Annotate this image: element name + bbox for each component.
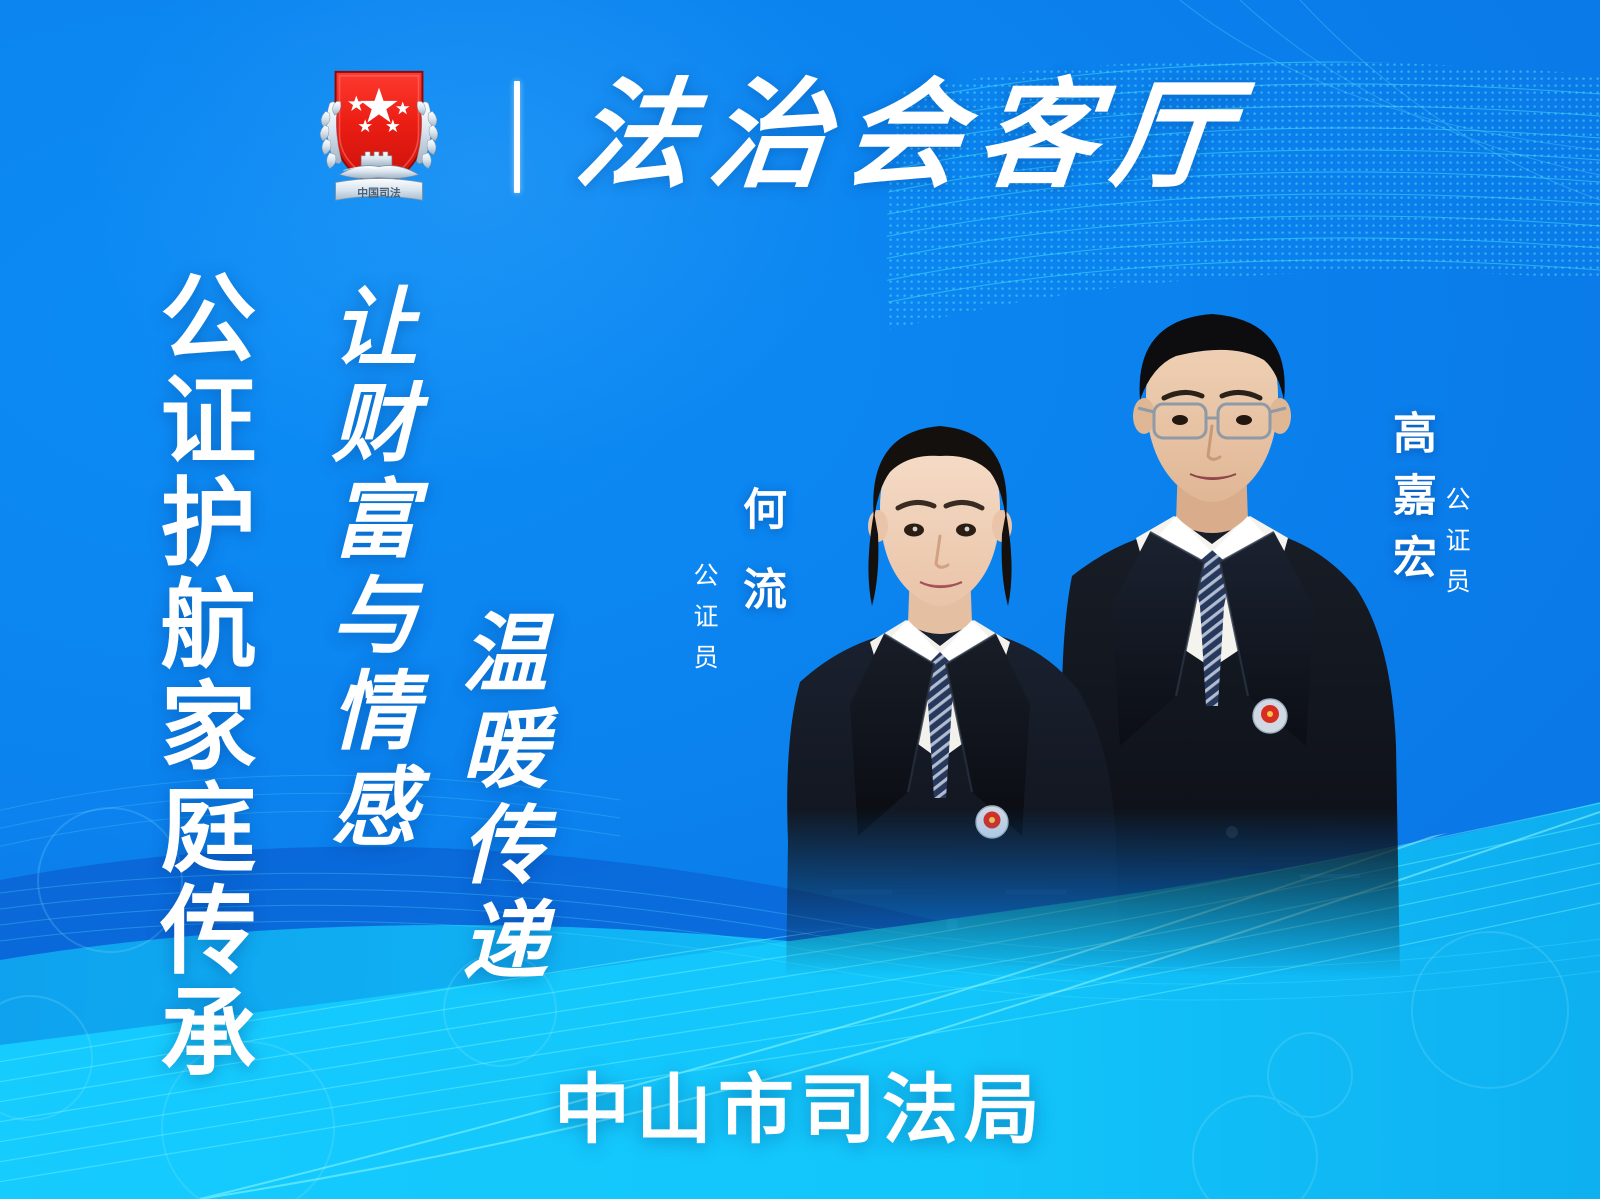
poster-canvas: 中国司法 法治会客厅 公证护航家庭传承 让财富与情感 温暖传递 <box>0 0 1600 1199</box>
notary-badge-he <box>976 806 1008 838</box>
person-name-he-liu: 何流 <box>728 486 792 646</box>
organization-name: 中山市司法局 <box>0 1048 1600 1158</box>
notaries-photo-group <box>740 276 1440 976</box>
china-justice-emblem-icon: 中国司法 <box>300 58 458 216</box>
person-role-he-liu: 公证员 <box>686 562 722 685</box>
emblem-banner-text: 中国司法 <box>357 185 401 199</box>
slogan-sub-2: 温暖传递 <box>434 608 559 992</box>
person-name-gao-jiahong: 高嘉宏 <box>1378 410 1442 596</box>
slogan-sub-1: 让财富与情感 <box>304 282 429 858</box>
emblem-banner: 中国司法 <box>336 178 423 200</box>
person-role-gao-jiahong: 公证员 <box>1438 486 1474 609</box>
slogan-main-vertical: 公证护航家庭传承 <box>150 268 248 1084</box>
header-divider <box>514 81 520 193</box>
notary-badge-gao <box>1253 699 1287 733</box>
person-photo-he-liu <box>786 426 1120 976</box>
poster-header: 中国司法 法治会客厅 <box>300 56 1246 218</box>
page-title: 法治会客厅 <box>570 78 1252 196</box>
